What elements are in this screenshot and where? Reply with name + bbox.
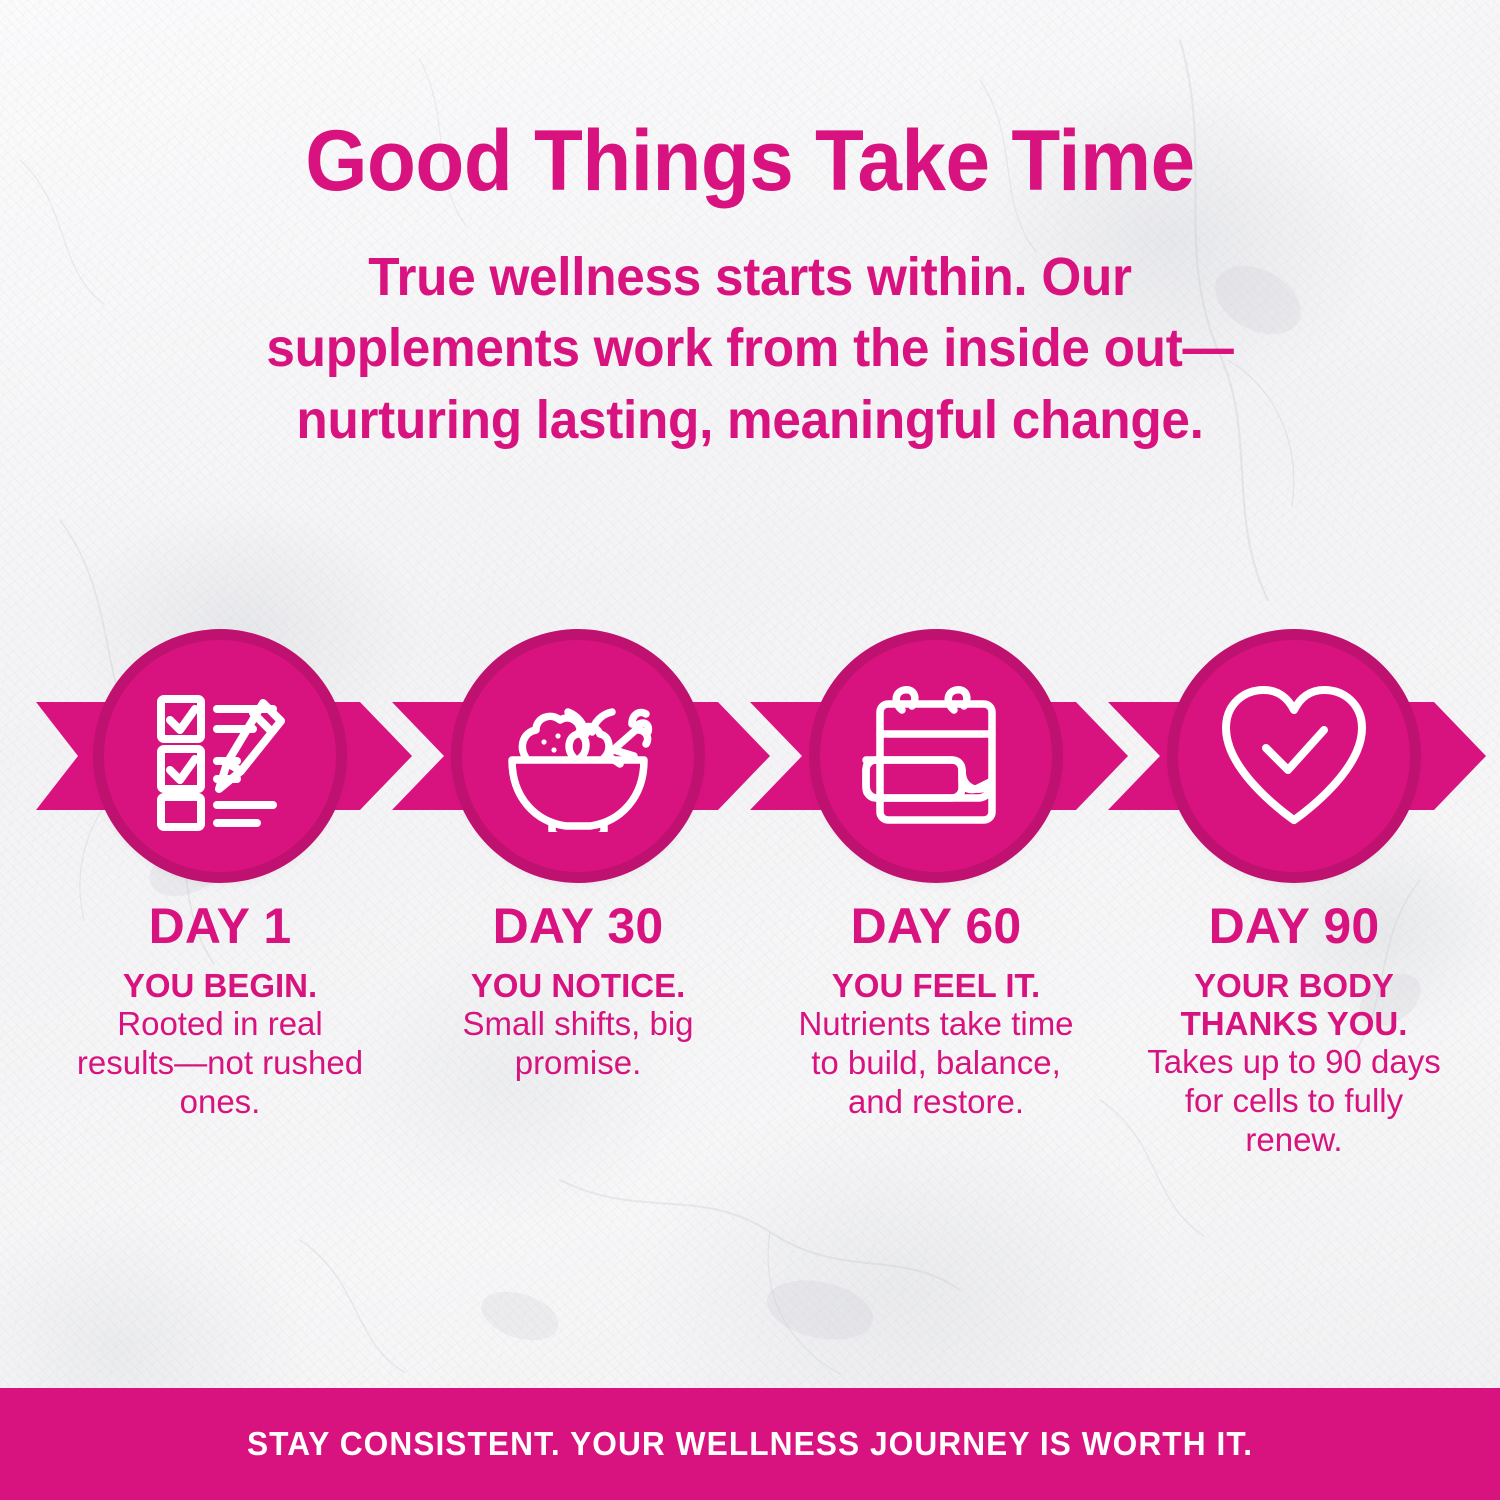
step-description-4: Takes up to 90 days for cells to fully r… (1144, 1043, 1444, 1160)
step-circle-3[interactable] (820, 640, 1052, 872)
step-day-2: DAY 30 (428, 900, 728, 953)
step-description-3: Nutrients take time to build, balance, a… (786, 1005, 1086, 1122)
step-headline-2: YOU NOTICE. (428, 967, 728, 1005)
calendar-progress-icon (862, 682, 1010, 830)
step-headline-4: YOUR BODY THANKS YOU. (1144, 967, 1444, 1044)
step-label-1: DAY 1 YOU BEGIN. Rooted in real results—… (70, 900, 370, 1122)
footer-banner: STAY CONSISTENT. YOUR WELLNESS JOURNEY I… (0, 1388, 1500, 1500)
step-circle-1[interactable] (104, 640, 336, 872)
step-label-3: DAY 60 YOU FEEL IT. Nutrients take time … (786, 900, 1086, 1122)
step-headline-1: YOU BEGIN. (70, 967, 370, 1005)
step-circle-2[interactable] (462, 640, 694, 872)
step-day-1: DAY 1 (70, 900, 370, 953)
step-label-4: DAY 90 YOUR BODY THANKS YOU. Takes up to… (1144, 900, 1444, 1160)
step-day-3: DAY 60 (786, 900, 1086, 953)
step-day-4: DAY 90 (1144, 900, 1444, 953)
timeline-steps: DAY 1 YOU BEGIN. Rooted in real results—… (0, 0, 1500, 800)
salad-bowl-icon (502, 680, 654, 832)
step-description-2: Small shifts, big promise. (428, 1005, 728, 1083)
step-label-2: DAY 30 YOU NOTICE. Small shifts, big pro… (428, 900, 728, 1083)
step-description-1: Rooted in real results—not rushed ones. (70, 1005, 370, 1122)
step-circle-4[interactable] (1178, 640, 1410, 872)
step-headline-3: YOU FEEL IT. (786, 967, 1086, 1005)
infographic-canvas: Good Things Take Time True wellness star… (0, 0, 1500, 1500)
footer-message: STAY CONSISTENT. YOUR WELLNESS JOURNEY I… (247, 1425, 1253, 1463)
heart-check-icon (1218, 682, 1370, 830)
checklist-pencil-icon (145, 681, 295, 831)
